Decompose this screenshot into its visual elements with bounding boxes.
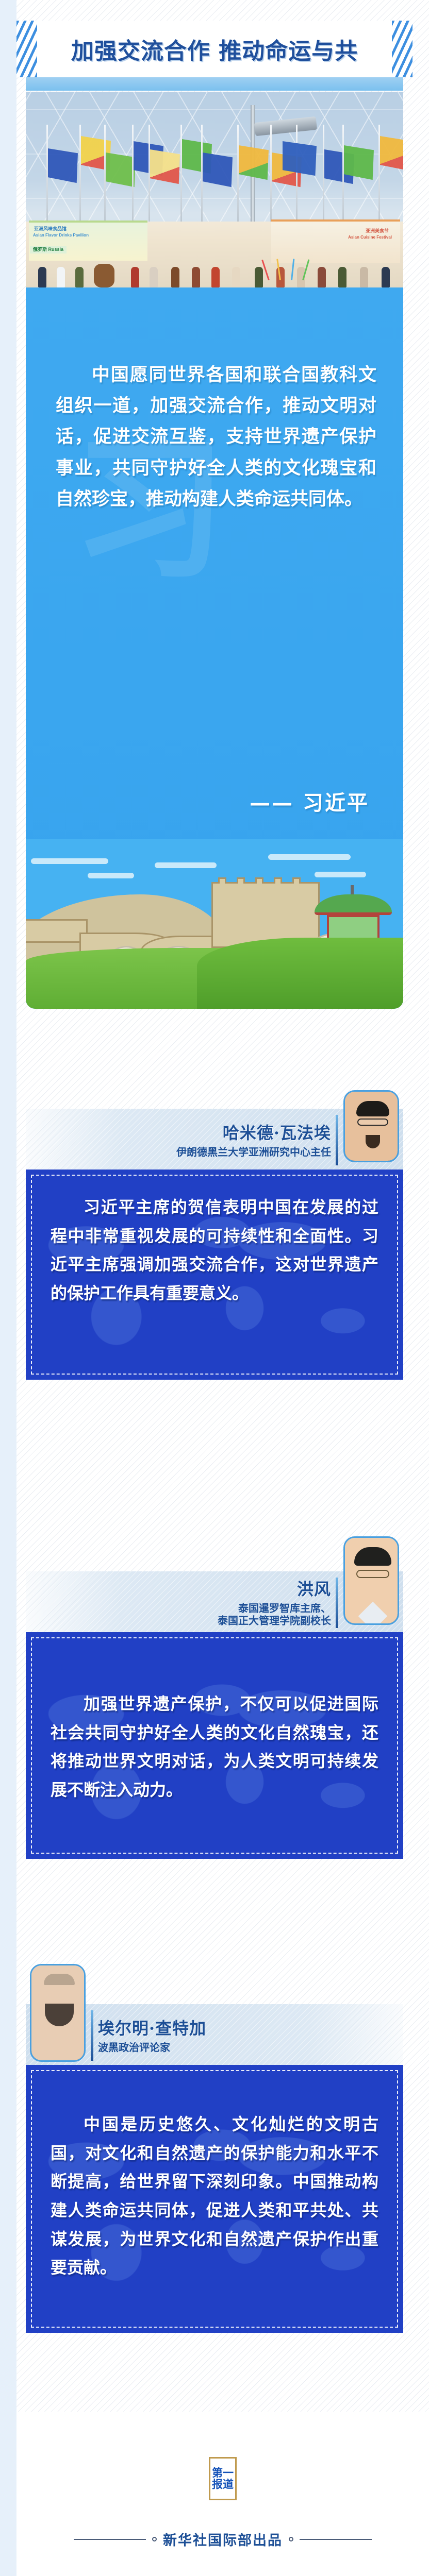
stripe-decor-left-icon (16, 21, 37, 77)
stripe-decor-right-icon (392, 21, 412, 77)
expert-identity: 埃尔明·查特加 波黑政治评论家 (98, 2015, 206, 2054)
seal-line-1: 第一 (212, 2467, 234, 2479)
rule-right (300, 2539, 372, 2540)
grass-right (197, 938, 403, 1009)
xi-quote-panel: 习 中国愿同世界各国和联合国教科文组织一道，加强交流合作，推动文明对话，促进交流… (26, 287, 403, 1009)
avatar (343, 1090, 399, 1162)
dot-right-icon (289, 2537, 293, 2541)
avatar (30, 1964, 86, 2062)
footer: 第一 报道 新华社国际部出品 (16, 2412, 429, 2576)
expert-quote-text: 习近平主席的贺信表明中国在发展的过程中非常重视发展的可持续性和全面性。习近平主席… (26, 1170, 403, 1332)
left-rail (0, 0, 16, 2576)
great-wall-illustration (26, 839, 403, 1009)
expert-block-2: 洪风 泰国暹罗智库主席、 泰国正大管理学院副校长 加强世界遗产保护，不仅可以促进… (26, 1571, 403, 1859)
country-banner-russia: 俄罗斯 Russia (30, 246, 67, 253)
performers-crowd (26, 264, 403, 287)
expert-title: 波黑政治评论家 (98, 2041, 170, 2054)
pavilion-right-label-cn: 亚洲美食节 (366, 228, 389, 234)
expert-title: 泰国暹罗智库主席、 泰国正大管理学院副校长 (218, 1602, 331, 1628)
pavilion-right (271, 219, 400, 263)
pavilion-left-label-cn: 亚洲风味食品馆 (34, 226, 67, 232)
poster-page: 加强交流合作 推动命运与共 (0, 0, 429, 2576)
name-divider-rule (336, 1578, 338, 1628)
glasses-icon (357, 1118, 388, 1126)
expert-quote-text: 加强世界遗产保护，不仅可以促进国际社会共同守护好全人类的文化自然瑰宝，还将推动世… (26, 1632, 403, 1828)
expert-title: 伊朗德黑兰大学亚洲研究中心主任 (176, 1146, 331, 1158)
title-plate: 加强交流合作 推动命运与共 (26, 21, 403, 77)
expert-quote-box: 习近平主席的贺信表明中国在发展的过程中非常重视发展的可持续性和全面性。习近平主席… (26, 1170, 403, 1380)
xi-quote-attribution: —— 习近平 (250, 786, 369, 816)
title-underbar (26, 77, 403, 91)
name-divider-rule (91, 2010, 93, 2061)
expert-name: 哈米德·瓦法埃 (223, 1120, 331, 1144)
hair-icon (356, 1101, 389, 1116)
expert-quote-box: 中国是历史悠久、文化灿烂的文明古国，对文化和自然遗产的保护能力和水平不断提高，给… (26, 2065, 403, 2333)
hair-icon (44, 1974, 75, 1985)
glasses-icon (356, 1570, 389, 1578)
expert-identity: 哈米德·瓦法埃 伊朗德黑兰大学亚洲研究中心主任 (176, 1120, 331, 1158)
credit-text: 新华社国际部出品 (163, 2529, 283, 2549)
pavilion-right-label-en: Asian Cuisine Festival (348, 235, 392, 240)
expert-name: 埃尔明·查特加 (98, 2015, 206, 2039)
wall-segment (26, 919, 88, 943)
expert-identity: 洪风 泰国暹罗智库主席、 泰国正大管理学院副校长 (218, 1577, 331, 1628)
hero-photo: 亚洲风味食品馆 Asian Flavor Drinks Pavilion 亚洲美… (26, 92, 403, 287)
expert-block-1: 哈米德·瓦法埃 伊朗德黑兰大学亚洲研究中心主任 习近平主席的贺信表明中国在发展的… (26, 1109, 403, 1380)
expert-quote-text: 中国是历史悠久、文化灿烂的文明古国，对文化和自然遗产的保护能力和水平不断提高，给… (26, 2065, 403, 2306)
expert-block-3: 埃尔明·查特加 波黑政治评论家 中国是历史悠久、文化灿烂的文明古国，对文化和自然… (26, 2004, 403, 2333)
pavilion-left-label-en: Asian Flavor Drinks Pavilion (33, 233, 89, 238)
expert-quote-box: 加强世界遗产保护，不仅可以促进国际社会共同守护好全人类的文化自然瑰宝，还将推动世… (26, 1632, 403, 1859)
credit-line: 新华社国际部出品 (16, 2529, 429, 2549)
seal-line-2: 报道 (212, 2479, 234, 2490)
dot-left-icon (152, 2537, 157, 2541)
name-divider-rule (336, 1115, 338, 1165)
xi-quote-text: 中国愿同世界各国和联合国教科文组织一道，加强交流合作，推动文明对话，促进交流互鉴… (56, 360, 376, 515)
avatar (343, 1536, 399, 1625)
brand-seal: 第一 报道 (209, 2457, 237, 2500)
rule-left (74, 2539, 146, 2540)
header: 加强交流合作 推动命运与共 (16, 21, 412, 91)
page-title: 加强交流合作 推动命运与共 (71, 32, 358, 65)
expert-name: 洪风 (297, 1577, 331, 1600)
